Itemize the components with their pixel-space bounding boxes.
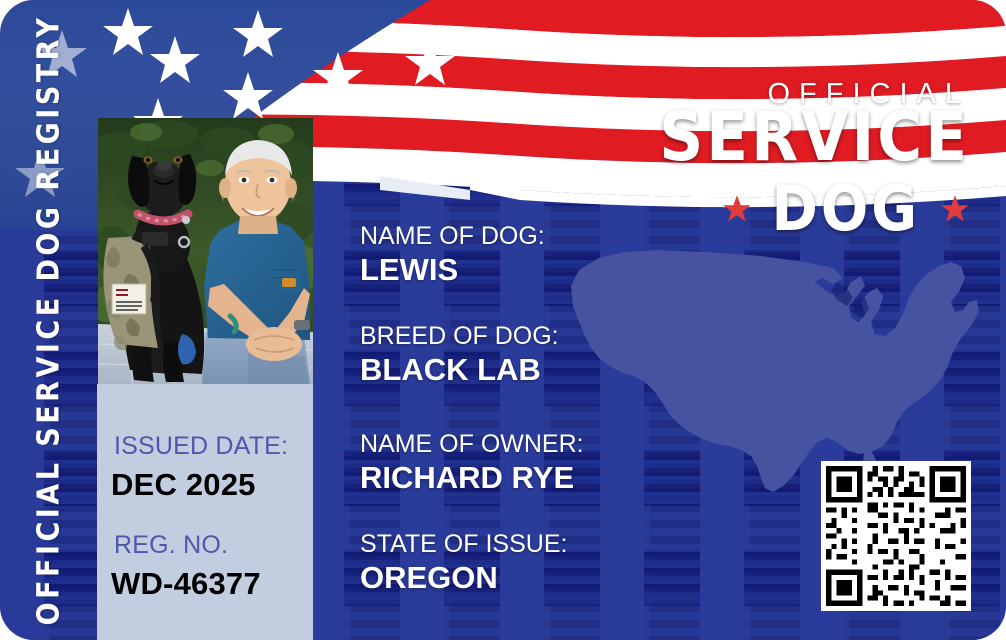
field-label-state-of-issue: STATE OF ISSUE: (360, 530, 567, 559)
field-value-state-of-issue: OREGON (360, 560, 498, 596)
header-service-text: SERVICE (659, 104, 970, 172)
header-dog-text: DOG (772, 178, 921, 240)
field-value-name-of-dog: LEWIS (360, 252, 458, 288)
star-icon (940, 194, 970, 224)
star-icon (722, 194, 752, 224)
issued-date-value: DEC 2025 (111, 467, 256, 503)
id-photo (98, 118, 313, 384)
header-dog-row: DOG (722, 178, 971, 240)
issued-info-panel: ISSUED DATE: DEC 2025 REG. NO. WD-46377 (97, 384, 313, 640)
issued-date-label: ISSUED DATE: (114, 432, 288, 461)
qr-code[interactable] (821, 461, 971, 611)
field-label-breed-of-dog: BREED OF DOG: (360, 322, 559, 351)
service-dog-id-card: OFFICIAL SERVICE DOG REGISTRY (0, 0, 1006, 640)
sidebar-registry-text: OFFICIAL SERVICE DOG REGISTRY (31, 0, 66, 640)
sidebar-registry-strip: OFFICIAL SERVICE DOG REGISTRY (0, 0, 97, 640)
field-value-breed-of-dog: BLACK LAB (360, 352, 541, 388)
reg-no-value: WD-46377 (111, 566, 261, 602)
field-label-name-of-dog: NAME OF DOG: (360, 222, 545, 251)
field-label-name-of-owner: NAME OF OWNER: (360, 430, 584, 459)
field-value-name-of-owner: RICHARD RYE (360, 460, 574, 496)
reg-no-label: REG. NO. (114, 531, 228, 560)
